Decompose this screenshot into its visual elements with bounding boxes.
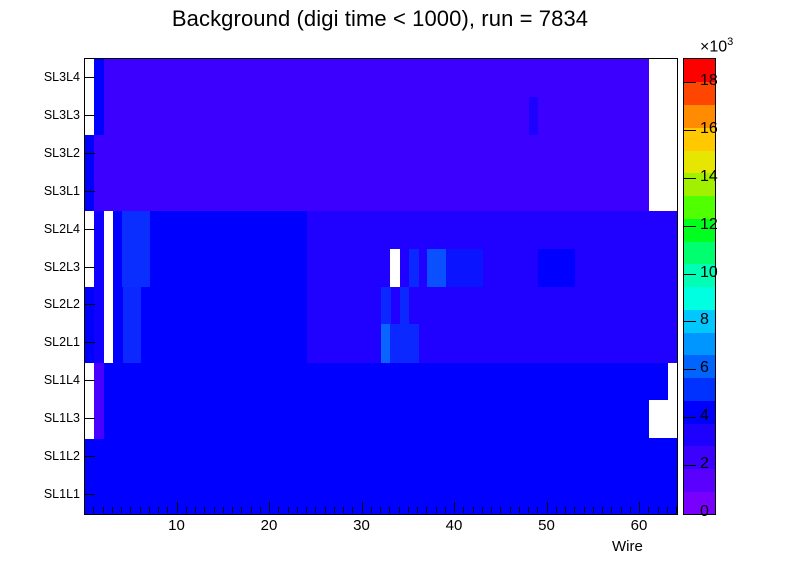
y-axis-label-sl2l4: SL2L4 bbox=[22, 223, 80, 235]
y-axis-label-sl3l3: SL3L3 bbox=[22, 109, 80, 121]
heatmap-cell bbox=[141, 211, 151, 287]
x-axis-title: Wire bbox=[612, 538, 643, 555]
x-axis-tick bbox=[232, 507, 233, 513]
x-axis-tick bbox=[667, 507, 668, 513]
x-axis-tick bbox=[408, 507, 409, 513]
y-axis-label-sl1l3: SL1L3 bbox=[22, 412, 80, 424]
x-axis-tick bbox=[556, 507, 557, 513]
exponent-mantissa: ×10 bbox=[700, 38, 727, 55]
x-axis-tick bbox=[574, 507, 575, 513]
x-axis-tick-label-20: 20 bbox=[244, 517, 294, 534]
x-axis-tick bbox=[121, 507, 122, 513]
x-axis-tick bbox=[380, 507, 381, 513]
x-axis-tick bbox=[621, 507, 622, 513]
x-axis-tick bbox=[158, 507, 159, 513]
heatmap-cell bbox=[104, 97, 530, 136]
color-scale-tick bbox=[683, 178, 696, 179]
x-axis-tick bbox=[177, 502, 178, 513]
x-axis-tick bbox=[639, 502, 640, 513]
y-axis-tick bbox=[84, 418, 95, 419]
x-axis-tick bbox=[93, 507, 94, 513]
color-scale-label-10: 10 bbox=[700, 264, 718, 282]
color-scale-tick bbox=[683, 130, 696, 131]
color-scale-tick bbox=[683, 274, 696, 275]
heatmap-cell bbox=[575, 249, 585, 288]
x-axis-tick bbox=[223, 507, 224, 513]
heatmap-cell bbox=[649, 59, 677, 98]
y-axis-tick bbox=[84, 115, 95, 116]
color-scale-tick bbox=[683, 465, 696, 466]
y-axis-label-sl2l1: SL2L1 bbox=[22, 336, 80, 348]
color-scale-label-18: 18 bbox=[700, 72, 718, 90]
x-axis-tick bbox=[454, 502, 455, 513]
x-axis-tick bbox=[426, 507, 427, 513]
heatmap-cell bbox=[85, 438, 678, 477]
x-axis-tick bbox=[584, 507, 585, 513]
page-title: Background (digi time < 1000), run = 783… bbox=[0, 6, 760, 32]
color-scale-tick bbox=[683, 417, 696, 418]
x-axis-tick bbox=[204, 507, 205, 513]
color-scale-tick bbox=[683, 82, 696, 83]
x-axis-tick bbox=[463, 507, 464, 513]
x-axis-tick bbox=[149, 507, 150, 513]
x-axis-tick bbox=[195, 507, 196, 513]
heatmap-cell bbox=[409, 249, 419, 288]
x-axis-tick bbox=[658, 507, 659, 513]
x-axis-tick bbox=[547, 502, 548, 513]
x-axis-tick bbox=[315, 507, 316, 513]
color-scale-label-0: 0 bbox=[700, 503, 709, 521]
y-axis-label-sl3l2: SL3L2 bbox=[22, 147, 80, 159]
color-scale-label-12: 12 bbox=[700, 216, 718, 234]
x-axis-tick bbox=[103, 507, 104, 513]
x-axis-tick bbox=[436, 507, 437, 513]
y-axis-label-sl2l2: SL2L2 bbox=[22, 298, 80, 310]
x-axis-tick bbox=[352, 507, 353, 513]
y-axis-labels: SL1L1SL1L2SL1L3SL1L4SL2L1SL2L2SL2L3SL2L4… bbox=[18, 58, 80, 513]
y-axis-label-sl1l4: SL1L4 bbox=[22, 374, 80, 386]
y-axis-label-sl2l3: SL2L3 bbox=[22, 261, 80, 273]
heatmap-cell bbox=[104, 59, 650, 98]
x-axis-tick bbox=[362, 502, 363, 513]
x-axis-tick bbox=[84, 507, 85, 513]
x-axis-tick-label-60: 60 bbox=[614, 517, 664, 534]
x-axis-tick-label-30: 30 bbox=[337, 517, 387, 534]
x-axis-tick bbox=[491, 507, 492, 513]
color-scale-label-2: 2 bbox=[700, 455, 709, 473]
x-axis-tick bbox=[186, 507, 187, 513]
x-axis-tick bbox=[140, 507, 141, 513]
x-axis-tick bbox=[297, 507, 298, 513]
heatmap-cell bbox=[307, 211, 678, 363]
x-axis-tick bbox=[510, 507, 511, 513]
heatmap-cell bbox=[122, 324, 141, 363]
heatmap-cell bbox=[649, 400, 677, 439]
y-axis-label-sl1l1: SL1L1 bbox=[22, 488, 80, 500]
heatmap-cell bbox=[122, 211, 141, 287]
x-axis-tick bbox=[473, 507, 474, 513]
color-scale-label-8: 8 bbox=[700, 311, 709, 329]
heatmap-cell bbox=[94, 400, 650, 439]
heatmap-cell bbox=[446, 249, 484, 288]
y-axis-tick bbox=[84, 342, 95, 343]
x-axis-tick bbox=[112, 507, 113, 513]
x-axis-tick bbox=[630, 507, 631, 513]
x-axis-tick bbox=[214, 507, 215, 513]
heatmap-cell bbox=[649, 135, 677, 174]
heatmap-cell bbox=[649, 97, 677, 136]
y-axis-label-sl3l1: SL3L1 bbox=[22, 185, 80, 197]
x-axis-tick bbox=[288, 507, 289, 513]
x-axis-tick bbox=[241, 507, 242, 513]
x-axis-tick bbox=[325, 507, 326, 513]
y-axis-tick bbox=[84, 456, 95, 457]
color-scale-label-16: 16 bbox=[700, 120, 718, 138]
y-axis-tick bbox=[84, 267, 95, 268]
heatmap-cell bbox=[631, 173, 650, 212]
x-axis-tick bbox=[389, 507, 390, 513]
x-axis-tick bbox=[167, 507, 168, 513]
x-axis-tick bbox=[565, 507, 566, 513]
x-axis-tick bbox=[528, 507, 529, 513]
color-band bbox=[684, 241, 715, 264]
color-scale-exponent: ×103 bbox=[700, 36, 733, 56]
y-axis-tick bbox=[84, 153, 95, 154]
x-axis-tick bbox=[251, 507, 252, 513]
x-axis-tick-label-10: 10 bbox=[152, 517, 202, 534]
heatmap-cells bbox=[85, 59, 677, 514]
x-axis-tick-label-40: 40 bbox=[429, 517, 479, 534]
color-scale-tick bbox=[683, 226, 696, 227]
heatmap-cell bbox=[85, 476, 678, 515]
y-axis-tick bbox=[84, 77, 95, 78]
x-axis-tick bbox=[648, 507, 649, 513]
color-band bbox=[684, 378, 715, 401]
x-axis-tick bbox=[417, 507, 418, 513]
color-band bbox=[684, 423, 715, 446]
color-scale-label-6: 6 bbox=[700, 359, 709, 377]
x-axis-tick bbox=[602, 507, 603, 513]
x-axis-tick bbox=[306, 507, 307, 513]
x-axis-tick bbox=[593, 507, 594, 513]
y-axis-tick bbox=[84, 191, 95, 192]
color-band bbox=[684, 332, 715, 355]
x-axis-tick bbox=[676, 507, 677, 513]
x-axis-tick bbox=[130, 507, 131, 513]
color-scale-label-14: 14 bbox=[700, 168, 718, 186]
heatmap-cell bbox=[538, 249, 576, 288]
y-axis-tick bbox=[84, 380, 95, 381]
heatmap-cell bbox=[122, 287, 141, 326]
x-axis-tick bbox=[343, 507, 344, 513]
heatmap-cell bbox=[94, 211, 104, 363]
x-axis-tick bbox=[260, 507, 261, 513]
heatmap-plot-area[interactable] bbox=[84, 58, 678, 515]
exponent-power: 3 bbox=[727, 36, 733, 48]
y-axis-tick bbox=[84, 494, 95, 495]
y-axis-tick bbox=[84, 229, 95, 230]
x-axis-tick bbox=[278, 507, 279, 513]
heatmap-cell bbox=[390, 249, 400, 288]
heatmap-cell bbox=[538, 97, 650, 136]
y-axis-label-sl1l2: SL1L2 bbox=[22, 450, 80, 462]
x-axis-tick bbox=[482, 507, 483, 513]
root-canvas: Background (digi time < 1000), run = 783… bbox=[0, 0, 796, 572]
color-scale-tick bbox=[683, 321, 696, 322]
heatmap-cell bbox=[94, 362, 668, 401]
color-scale-tick bbox=[683, 369, 696, 370]
color-band bbox=[684, 287, 715, 310]
heatmap-cell bbox=[400, 324, 419, 363]
heatmap-cell bbox=[649, 173, 677, 212]
heatmap-cell bbox=[141, 211, 308, 363]
x-axis-tick bbox=[269, 502, 270, 513]
heatmap-cell bbox=[94, 362, 104, 438]
heatmap-cell bbox=[427, 249, 446, 288]
x-axis-tick bbox=[537, 507, 538, 513]
x-axis-tick bbox=[519, 507, 520, 513]
heatmap-cell bbox=[668, 362, 678, 401]
heatmap-cell bbox=[104, 173, 632, 212]
x-axis-tick bbox=[399, 507, 400, 513]
x-axis-tick-label-50: 50 bbox=[522, 517, 572, 534]
x-axis-tick bbox=[445, 507, 446, 513]
x-axis-tick bbox=[334, 507, 335, 513]
x-axis-tick bbox=[611, 507, 612, 513]
y-axis-label-sl3l4: SL3L4 bbox=[22, 71, 80, 83]
color-scale-label-4: 4 bbox=[700, 407, 709, 425]
heatmap-cell bbox=[104, 135, 650, 174]
x-axis-tick bbox=[371, 507, 372, 513]
x-axis-tick bbox=[500, 507, 501, 513]
y-axis-tick bbox=[84, 304, 95, 305]
